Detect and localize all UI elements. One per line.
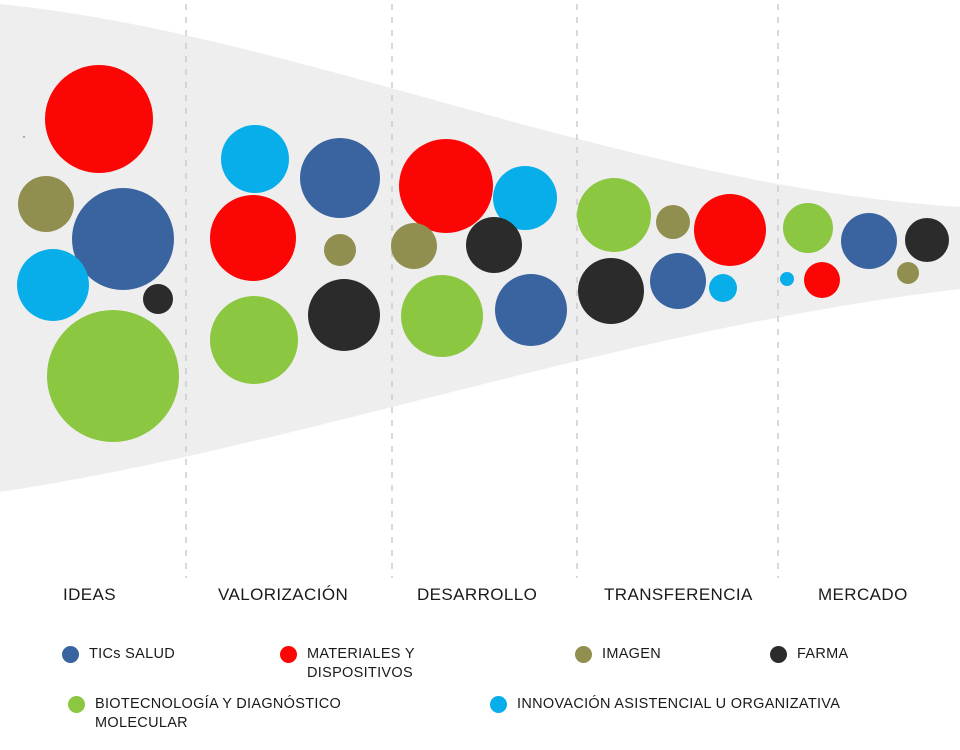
stage-label-transferencia: TRANSFERENCIA xyxy=(604,585,753,605)
bubble-valorizacion-innovacion[interactable] xyxy=(221,125,289,193)
legend: TICs SALUDMATERIALES Y DISPOSITIVOSIMAGE… xyxy=(0,645,960,750)
bubble-desarrollo-farma[interactable] xyxy=(466,217,522,273)
legend-label-tics: TICs SALUD xyxy=(89,645,175,664)
bubble-ideas-materiales[interactable] xyxy=(45,65,153,173)
bubble-valorizacion-tics[interactable] xyxy=(300,138,380,218)
bubble-transferencia-farma[interactable] xyxy=(578,258,644,324)
bubble-ideas-imagen[interactable] xyxy=(18,176,74,232)
legend-item-farma[interactable]: FARMA xyxy=(770,645,920,664)
bubble-valorizacion-farma[interactable] xyxy=(308,279,380,351)
bubble-transferencia-innovacion[interactable] xyxy=(709,274,737,302)
bubble-desarrollo-biotec[interactable] xyxy=(401,275,483,357)
bubble-mercado-innovacion[interactable] xyxy=(780,272,794,286)
legend-item-imagen[interactable]: IMAGEN xyxy=(575,645,725,664)
bubble-valorizacion-imagen[interactable] xyxy=(324,234,356,266)
legend-swatch-tics-icon xyxy=(62,646,79,663)
legend-swatch-innovacion-icon xyxy=(490,696,507,713)
legend-label-farma: FARMA xyxy=(797,645,848,664)
bubble-mercado-farma[interactable] xyxy=(905,218,949,262)
funnel-graphic xyxy=(0,0,960,600)
bubble-valorizacion-materiales[interactable] xyxy=(210,195,296,281)
bubble-mercado-imagen[interactable] xyxy=(897,262,919,284)
funnel-diagram: IDEASVALORIZACIÓNDESARROLLOTRANSFERENCIA… xyxy=(0,0,960,750)
legend-label-imagen: IMAGEN xyxy=(602,645,661,664)
bubble-mercado-materiales[interactable] xyxy=(804,262,840,298)
legend-swatch-farma-icon xyxy=(770,646,787,663)
funnel-chart-area xyxy=(0,0,960,600)
bubble-ideas-biotec[interactable] xyxy=(47,310,179,442)
legend-label-innovacion: INNOVACIÓN ASISTENCIAL U ORGANIZATIVA xyxy=(517,695,840,714)
bubble-ideas-farma[interactable] xyxy=(143,284,173,314)
stage-label-desarrollo: DESARROLLO xyxy=(417,585,537,605)
bubble-valorizacion-biotec[interactable] xyxy=(210,296,298,384)
legend-label-materiales: MATERIALES Y DISPOSITIVOS xyxy=(307,645,415,683)
legend-swatch-imagen-icon xyxy=(575,646,592,663)
bubble-transferencia-tics[interactable] xyxy=(650,253,706,309)
legend-item-materiales[interactable]: MATERIALES Y DISPOSITIVOS xyxy=(280,645,490,683)
stage-label-row: IDEASVALORIZACIÓNDESARROLLOTRANSFERENCIA… xyxy=(0,585,960,619)
legend-item-innovacion[interactable]: INNOVACIÓN ASISTENCIAL U ORGANIZATIVA xyxy=(490,695,910,714)
bubble-mercado-tics[interactable] xyxy=(841,213,897,269)
legend-item-tics[interactable]: TICs SALUD xyxy=(62,645,242,664)
bubble-ideas-innovacion[interactable] xyxy=(17,249,89,321)
bubble-transferencia-biotec[interactable] xyxy=(577,178,651,252)
legend-item-biotec[interactable]: BIOTECNOLOGÍA Y DIAGNÓSTICO MOLECULAR xyxy=(68,695,418,733)
legend-label-biotec: BIOTECNOLOGÍA Y DIAGNÓSTICO MOLECULAR xyxy=(95,695,341,733)
bubble-transferencia-materiales[interactable] xyxy=(694,194,766,266)
marker-dot xyxy=(23,136,25,138)
stage-label-ideas: IDEAS xyxy=(63,585,116,605)
stage-label-valorizacion: VALORIZACIÓN xyxy=(218,585,348,605)
bubble-desarrollo-tics[interactable] xyxy=(495,274,567,346)
stage-label-mercado: MERCADO xyxy=(818,585,908,605)
bubble-transferencia-imagen[interactable] xyxy=(656,205,690,239)
legend-swatch-materiales-icon xyxy=(280,646,297,663)
bubble-desarrollo-imagen[interactable] xyxy=(391,223,437,269)
legend-swatch-biotec-icon xyxy=(68,696,85,713)
bubble-mercado-biotec[interactable] xyxy=(783,203,833,253)
bubble-desarrollo-materiales[interactable] xyxy=(399,139,493,233)
